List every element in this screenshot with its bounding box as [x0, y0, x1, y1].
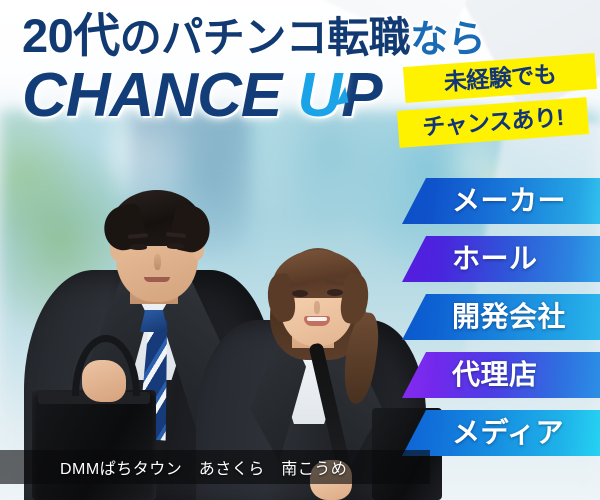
headline-line-1-text: のパチンコ転職: [120, 14, 411, 61]
category-item-agency[interactable]: 代理店: [396, 352, 600, 398]
man-nose: [154, 254, 161, 270]
woman-eye-left: [292, 290, 308, 297]
man-mouth: [144, 277, 170, 282]
people-photo: [0, 130, 430, 500]
man-eye-left: [130, 244, 147, 250]
headline-line-1: 20代のパチンコ転職なら: [22, 12, 485, 59]
woman-eye-right: [327, 289, 343, 296]
woman-teeth: [307, 317, 327, 321]
credit-caption: DMMぱちタウン あさくら 南こうめ: [0, 450, 430, 484]
category-item-developer[interactable]: 開発会社: [396, 294, 600, 340]
man-eye-right: [167, 243, 184, 249]
category-label: 代理店: [452, 361, 538, 389]
headline-up-p: P: [341, 61, 381, 130]
category-item-hall[interactable]: ホール: [396, 236, 600, 282]
headline-age: 20代: [22, 9, 120, 62]
badge-line-1: 未経験でも: [403, 53, 597, 103]
credit-caption-text: DMMぱちタウン あさくら 南こうめ: [60, 455, 347, 479]
category-label: 開発会社: [452, 303, 566, 331]
no-experience-badge: 未経験でも チャンスあり!: [398, 54, 598, 154]
category-label: メーカー: [452, 187, 566, 215]
category-label: メディア: [452, 419, 564, 447]
woman-nose: [314, 301, 320, 314]
category-item-maker[interactable]: メーカー: [396, 178, 600, 224]
category-list: メーカー ホール 開発会社 代理店 メディア: [396, 178, 600, 478]
headline-chance-text: CHANCE: [22, 61, 297, 130]
badge-line-2: チャンスあり!: [397, 97, 589, 148]
man-hand: [82, 360, 126, 402]
category-label: ホール: [452, 245, 538, 273]
advertisement-banner[interactable]: 20代のパチンコ転職なら CHANCE UP 未経験でも チャンスあり! メーカ…: [0, 0, 600, 500]
